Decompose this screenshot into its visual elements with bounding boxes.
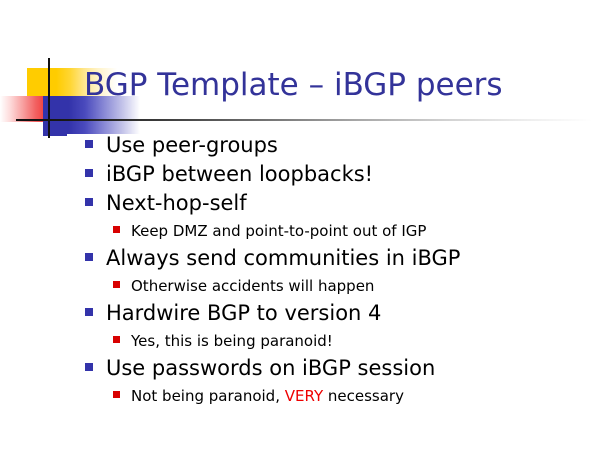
page-title: BGP Template – iBGP peers (84, 66, 584, 104)
bullet-text-segment: Not being paranoid, (131, 387, 285, 405)
slide: BGP Template – iBGP peers Use peer-group… (0, 0, 600, 450)
bullet-item-level1: Hardwire BGP to version 4 (0, 299, 600, 328)
bullet-item-level2: Not being paranoid, VERY necessary (0, 383, 600, 409)
bullet-item-level2: Keep DMZ and point-to-point out of IGP (0, 218, 600, 244)
bullet-square-icon (85, 169, 93, 177)
bullet-text: iBGP between loopbacks! (106, 160, 373, 189)
bullet-text: Yes, this is being paranoid! (131, 328, 333, 354)
bullet-item-level1: Use passwords on iBGP session (0, 354, 600, 383)
bullet-square-icon (85, 253, 93, 261)
bullet-text: Use passwords on iBGP session (106, 354, 435, 383)
bullet-item-level1: iBGP between loopbacks! (0, 160, 600, 189)
bullet-item-level1: Next-hop-self (0, 189, 600, 218)
bullet-text: Hardwire BGP to version 4 (106, 299, 381, 328)
bullet-text: Use peer-groups (106, 131, 278, 160)
bullet-square-icon (85, 198, 93, 206)
bullet-square-icon (113, 226, 120, 233)
emphasis-text: VERY (285, 387, 323, 405)
bullet-square-icon (113, 336, 120, 343)
bullet-item-level2: Otherwise accidents will happen (0, 273, 600, 299)
bullet-text: Otherwise accidents will happen (131, 273, 374, 299)
bullet-square-icon (85, 363, 93, 371)
bullet-square-icon (85, 140, 93, 148)
logo-vertical-rule-icon (48, 58, 50, 138)
bullet-text: Next-hop-self (106, 189, 247, 218)
bullet-text: Keep DMZ and point-to-point out of IGP (131, 218, 426, 244)
bullet-square-icon (113, 391, 120, 398)
bullet-square-icon (113, 281, 120, 288)
bullet-list: Use peer-groupsiBGP between loopbacks!Ne… (0, 131, 600, 409)
bullet-text-segment: necessary (323, 387, 404, 405)
bullet-item-level1: Use peer-groups (0, 131, 600, 160)
bullet-text: Not being paranoid, VERY necessary (131, 383, 404, 409)
bullet-item-level1: Always send communities in iBGP (0, 244, 600, 273)
bullet-item-level2: Yes, this is being paranoid! (0, 328, 600, 354)
bullet-text: Always send communities in iBGP (106, 244, 460, 273)
title-underline-divider (36, 119, 592, 121)
bullet-square-icon (85, 308, 93, 316)
